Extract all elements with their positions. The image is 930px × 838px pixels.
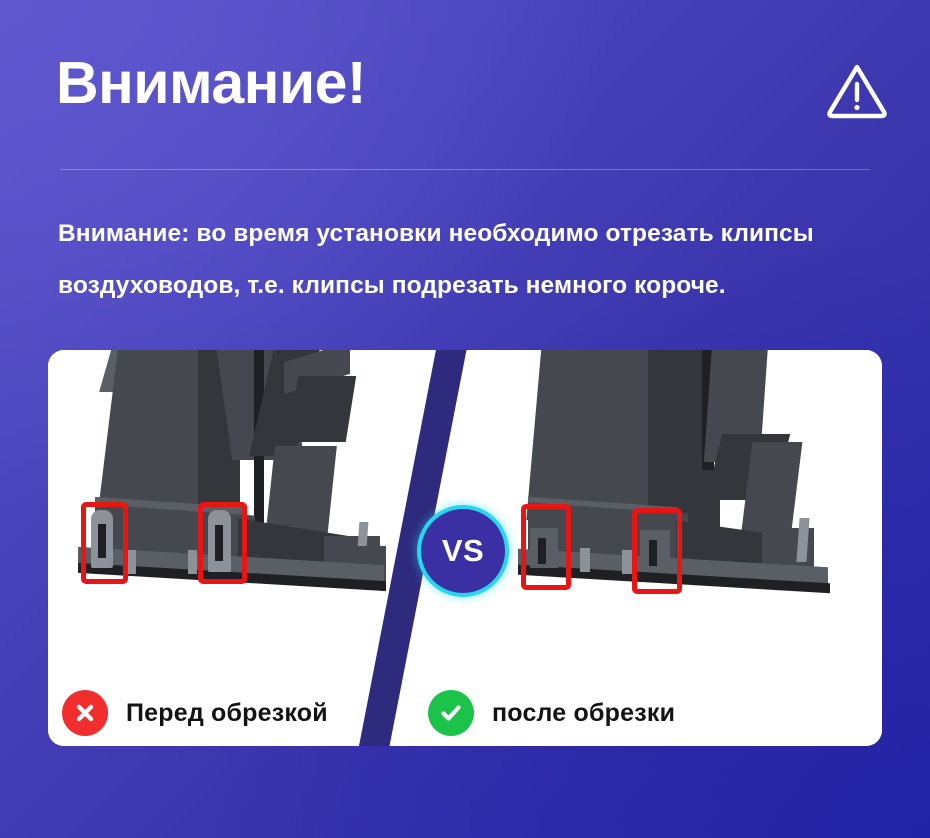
header: Внимание!: [0, 0, 930, 170]
vs-badge: VS: [417, 505, 509, 597]
label-before-cut: Перед обрезкой: [62, 680, 328, 746]
warning-triangle-icon: [826, 62, 888, 120]
notice-text: Внимание: во время установки необходимо …: [58, 208, 874, 312]
page-title: Внимание!: [56, 54, 366, 113]
clip-highlight-box: [632, 508, 682, 594]
photo-after-cut: [462, 350, 882, 680]
label-after-cut-text: после обрезки: [492, 699, 675, 728]
label-before-cut-text: Перед обрезкой: [126, 699, 328, 728]
photo-after-cut-image: [462, 350, 882, 680]
check-icon: [428, 690, 474, 736]
cross-icon: [62, 690, 108, 736]
warning-notice-page: Внимание! Внимание: во время установки н…: [0, 0, 930, 838]
header-divider: [60, 169, 870, 170]
clip-highlight-box: [81, 502, 128, 584]
comparison-labels: Перед обрезкой после обрезки: [48, 680, 882, 746]
label-after-cut: после обрезки: [428, 680, 675, 746]
clip-highlight-box: [521, 504, 571, 590]
clip-highlight-box: [198, 502, 247, 584]
